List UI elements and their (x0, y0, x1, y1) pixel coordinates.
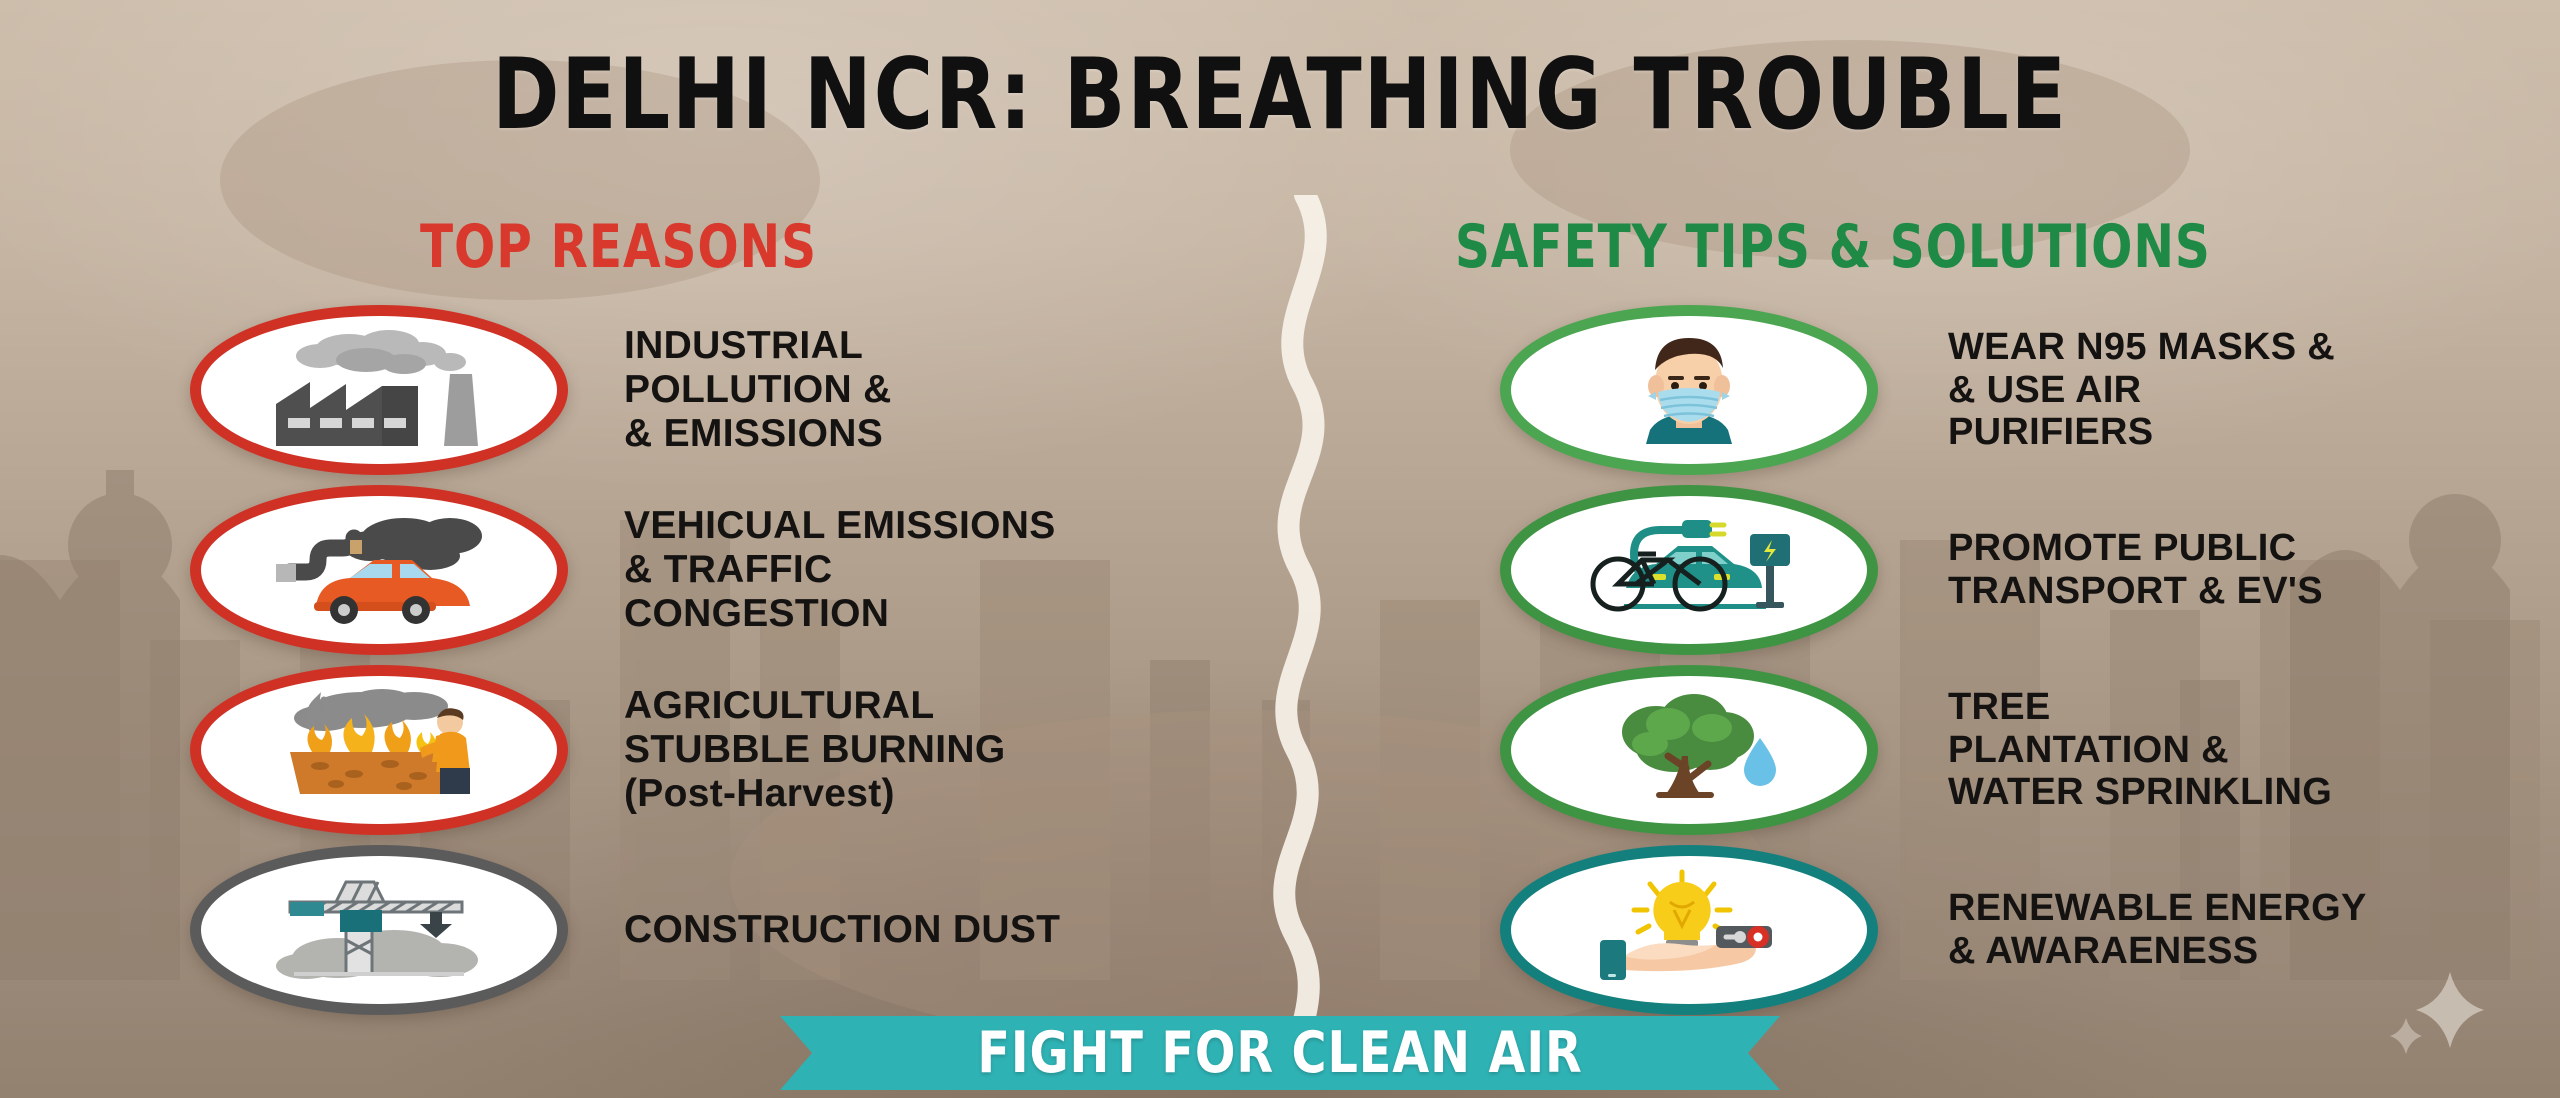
right-column-heading: SAFETY TIPS & SOLUTIONS (1455, 212, 2211, 282)
page-title: DELHI NCR: BREATHING TROUBLE (102, 38, 2457, 152)
left-column-heading: TOP REASONS (420, 212, 817, 282)
badge-ev-transport (1500, 485, 1878, 655)
electric-vehicle-bicycle-icon (1564, 506, 1814, 634)
list-item-label: AGRICULTURAL STUBBLE BURNING (Post-Harve… (624, 684, 1006, 816)
reasons-column: INDUSTRIAL POLLUTION & & EMISSIONS (190, 300, 1310, 1020)
list-item[interactable]: WEAR N95 MASKS & & USE AIR PURIFIERS (1500, 300, 2500, 480)
badge-tree (1500, 665, 1878, 835)
infographic-poster: DELHI NCR: BREATHING TROUBLE TOP REASONS… (0, 0, 2560, 1098)
sparkle-icon (2388, 966, 2498, 1056)
list-item-label: PROMOTE PUBLIC TRANSPORT & EV'S (1948, 527, 2323, 613)
badge-vehicle (190, 485, 568, 655)
list-item[interactable]: VEHICUAL EMISSIONS & TRAFFIC CONGESTION (190, 480, 1310, 660)
list-item[interactable]: AGRICULTURAL STUBBLE BURNING (Post-Harve… (190, 660, 1310, 840)
list-item-label: WEAR N95 MASKS & & USE AIR PURIFIERS (1948, 326, 2335, 455)
stubble-burning-farmer-icon (254, 686, 504, 814)
list-item-label: RENEWABLE ENERGY & AWARAENESS (1948, 887, 2367, 973)
factory-smokestack-icon (254, 326, 504, 454)
hand-lightbulb-renewable-icon (1564, 866, 1814, 994)
list-item-label: TREE PLANTATION & WATER SPRINKLING (1948, 686, 2332, 815)
badge-renewable-energy (1500, 845, 1878, 1015)
badge-factory (190, 305, 568, 475)
badge-mask (1500, 305, 1878, 475)
construction-crane-dust-icon (254, 866, 504, 994)
car-exhaust-smoke-icon (254, 506, 504, 634)
list-item[interactable]: RENEWABLE ENERGY & AWARAENESS (1500, 840, 2500, 1020)
list-item-label: INDUSTRIAL POLLUTION & & EMISSIONS (624, 324, 892, 456)
list-item-label: CONSTRUCTION DUST (624, 908, 1060, 952)
list-item[interactable]: INDUSTRIAL POLLUTION & & EMISSIONS (190, 300, 1310, 480)
solutions-column: WEAR N95 MASKS & & USE AIR PURIFIERS (1500, 300, 2500, 1020)
badge-construction (190, 845, 568, 1015)
list-item[interactable]: CONSTRUCTION DUST (190, 840, 1310, 1020)
fight-for-clean-air-banner[interactable]: FIGHT FOR CLEAN AIR (780, 1016, 1780, 1090)
banner-label: FIGHT FOR CLEAN AIR (815, 1016, 1745, 1090)
list-item[interactable]: PROMOTE PUBLIC TRANSPORT & EV'S (1500, 480, 2500, 660)
list-item-label: VEHICUAL EMISSIONS & TRAFFIC CONGESTION (624, 504, 1056, 636)
tree-water-droplet-icon (1564, 686, 1814, 814)
badge-stubble-burning (190, 665, 568, 835)
person-face-mask-icon (1564, 326, 1814, 454)
list-item[interactable]: TREE PLANTATION & WATER SPRINKLING (1500, 660, 2500, 840)
